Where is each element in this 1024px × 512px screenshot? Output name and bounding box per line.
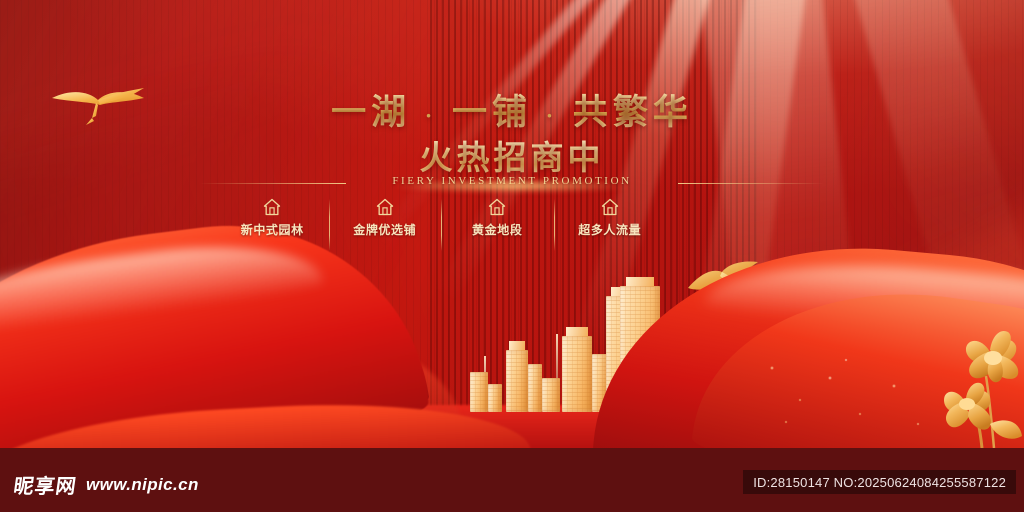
banner-canvas: 一湖 · 一铺 · 共繁华 火热招商中 FIERY INVESTMENT PRO…: [0, 0, 1024, 448]
feature-item-2[interactable]: 金牌优选铺: [329, 197, 442, 238]
brand-url: www.nipic.cn: [86, 475, 199, 495]
banner-poster: 一湖 · 一铺 · 共繁华 火热招商中 FIERY INVESTMENT PRO…: [0, 0, 1024, 512]
brand-logo: 昵享网: [12, 470, 79, 499]
headline-part-1: 一湖: [331, 93, 411, 132]
headline-part-3: 共繁华: [573, 93, 693, 132]
feature-label: 超多人流量: [554, 221, 667, 238]
feature-list: 新中式园林 金牌优选铺 黄金地段: [216, 197, 666, 255]
feature-label: 金牌优选铺: [329, 221, 442, 238]
feature-divider: [441, 199, 442, 251]
page-title: 一湖 · 一铺 · 共繁华: [0, 84, 1024, 135]
site-brand[interactable]: 昵享网 www.nipic.cn: [14, 470, 199, 499]
feature-label: 新中式园林: [216, 221, 329, 238]
feature-divider: [329, 199, 330, 251]
glow-accent: [392, 180, 632, 192]
feature-item-3[interactable]: 黄金地段: [441, 197, 554, 238]
headline-separator: ·: [425, 103, 438, 128]
lotus-flower-icon: [894, 328, 1024, 448]
headline-separator: ·: [546, 103, 559, 128]
asset-id-label: ID:28150147 NO:20250624084255587122: [743, 470, 1016, 494]
house-icon: [600, 197, 620, 217]
feature-divider: [554, 199, 555, 251]
feature-label: 黄金地段: [441, 221, 554, 238]
house-icon: [487, 197, 507, 217]
feature-item-4[interactable]: 超多人流量: [554, 197, 667, 238]
crane-bird-icon: [686, 258, 762, 306]
headline-part-2: 一铺: [452, 93, 532, 132]
feature-item-1[interactable]: 新中式园林: [216, 197, 329, 238]
house-icon: [375, 197, 395, 217]
house-icon: [262, 197, 282, 217]
